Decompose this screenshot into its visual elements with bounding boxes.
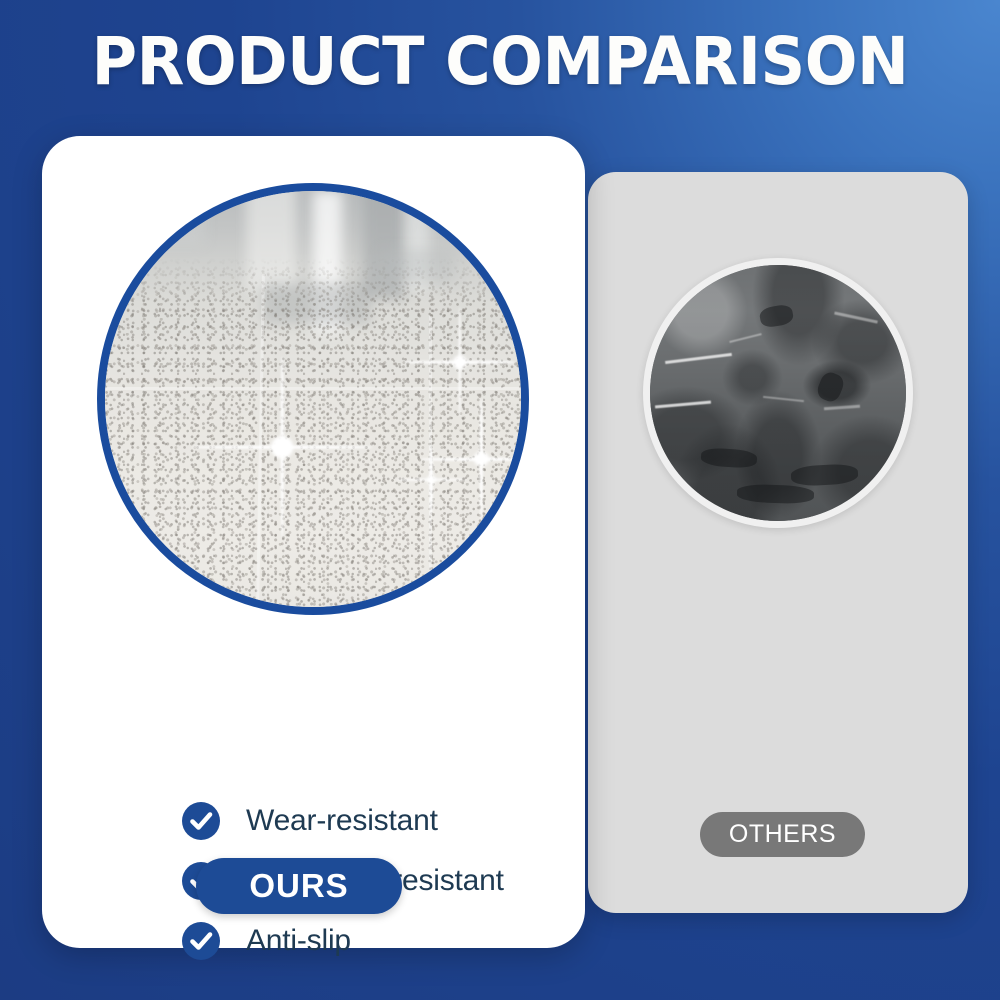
list-item: Wear-resistant: [182, 791, 504, 851]
ours-badge: OURS: [196, 858, 402, 914]
list-item-label: Wear-resistant: [246, 804, 438, 838]
others-badge: OTHERS: [700, 812, 865, 857]
others-floor-blotches: [650, 265, 906, 521]
floor-aggregate-speckle: [105, 258, 521, 607]
page-title: PRODUCT COMPARISON: [30, 26, 970, 98]
others-card: Paint peeling Wrinkling Easy to slip: [588, 172, 968, 913]
check-circle-icon: [182, 922, 220, 960]
ours-card: Wear-resistant Hot & cold-resistant Anti…: [42, 136, 585, 948]
list-item: Anti-slip: [182, 911, 504, 971]
others-product-image: [643, 258, 913, 528]
floor-reflection: [138, 183, 205, 245]
floor-seam: [429, 316, 432, 607]
check-circle-icon: [182, 802, 220, 840]
list-item-label: Anti-slip: [246, 924, 351, 958]
floor-seam: [105, 387, 521, 390]
ours-product-image: [97, 183, 529, 615]
